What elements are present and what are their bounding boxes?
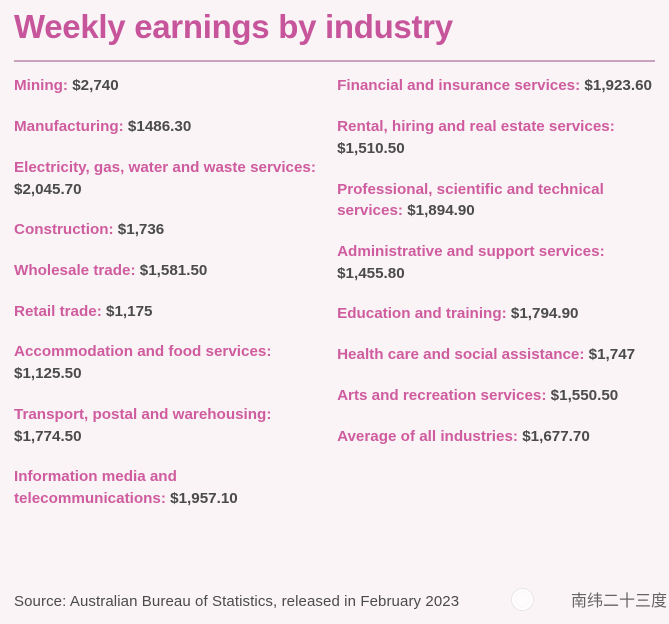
industry-entry: Manufacturing: $1486.30 bbox=[14, 116, 325, 138]
industry-label: Construction: bbox=[14, 221, 114, 238]
industry-label: Arts and recreation services: bbox=[337, 387, 546, 404]
industry-label: Mining: bbox=[14, 77, 68, 94]
watermark-text: 南纬二十三度 bbox=[571, 587, 667, 611]
industry-entry: Wholesale trade: $1,581.50 bbox=[14, 260, 325, 282]
industry-label: Education and training: bbox=[337, 305, 507, 322]
industry-value: $1486.30 bbox=[128, 118, 191, 135]
title-divider bbox=[14, 60, 655, 62]
industry-label: Accommodation and food services: bbox=[14, 343, 271, 360]
source-note: Source: Australian Bureau of Statistics,… bbox=[14, 593, 459, 610]
industry-label: Manufacturing: bbox=[14, 118, 124, 135]
industry-label: Administrative and support services: bbox=[337, 243, 605, 260]
industry-label: Information media and telecommunications… bbox=[14, 468, 177, 507]
earnings-column-right: Financial and insurance services: $1,923… bbox=[337, 75, 655, 466]
watermark-logo-icon bbox=[512, 589, 533, 610]
industry-value: $1,175 bbox=[106, 303, 152, 320]
industry-entry: Rental, hiring and real estate services:… bbox=[337, 116, 655, 159]
industry-value: $1,455.80 bbox=[337, 265, 405, 282]
industry-value: $1,894.90 bbox=[407, 202, 475, 219]
industry-entry: Financial and insurance services: $1,923… bbox=[337, 75, 655, 97]
industry-label: Average of all industries: bbox=[337, 428, 518, 445]
industry-entry: Transport, postal and warehousing: $1,77… bbox=[14, 404, 325, 447]
industry-entry: Average of all industries: $1,677.70 bbox=[337, 426, 655, 448]
industry-entry: Administrative and support services: $1,… bbox=[337, 241, 655, 284]
earnings-columns: Mining: $2,740Manufacturing: $1486.30Ele… bbox=[14, 75, 655, 529]
industry-entry: Electricity, gas, water and waste servic… bbox=[14, 157, 325, 200]
industry-label: Rental, hiring and real estate services: bbox=[337, 118, 615, 135]
industry-value: $2,740 bbox=[72, 77, 118, 94]
industry-label: Wholesale trade: bbox=[14, 262, 136, 279]
industry-value: $1,125.50 bbox=[14, 365, 82, 382]
industry-value: $1,550.50 bbox=[551, 387, 619, 404]
industry-value: $1,747 bbox=[589, 346, 635, 363]
industry-value: $1,510.50 bbox=[337, 140, 405, 157]
industry-value: $1,794.90 bbox=[511, 305, 579, 322]
industry-entry: Construction: $1,736 bbox=[14, 219, 325, 241]
industry-entry: Health care and social assistance: $1,74… bbox=[337, 344, 655, 366]
industry-value: $1,736 bbox=[118, 221, 164, 238]
page-title: Weekly earnings by industry bbox=[14, 0, 655, 45]
industry-entry: Education and training: $1,794.90 bbox=[337, 303, 655, 325]
industry-value: $1,957.10 bbox=[170, 490, 238, 507]
industry-value: $1,581.50 bbox=[140, 262, 208, 279]
industry-label: Health care and social assistance: bbox=[337, 346, 584, 363]
industry-entry: Arts and recreation services: $1,550.50 bbox=[337, 385, 655, 407]
industry-label: Financial and insurance services: bbox=[337, 77, 580, 94]
industry-entry: Information media and telecommunications… bbox=[14, 466, 325, 509]
industry-entry: Accommodation and food services: $1,125.… bbox=[14, 341, 325, 384]
industry-entry: Professional, scientific and technical s… bbox=[337, 179, 655, 222]
industry-label: Electricity, gas, water and waste servic… bbox=[14, 159, 316, 176]
industry-value: $1,774.50 bbox=[14, 428, 82, 445]
industry-label: Transport, postal and warehousing: bbox=[14, 406, 271, 423]
industry-entry: Mining: $2,740 bbox=[14, 75, 325, 97]
industry-entry: Retail trade: $1,175 bbox=[14, 301, 325, 323]
industry-label: Retail trade: bbox=[14, 303, 102, 320]
industry-value: $1,677.70 bbox=[522, 428, 590, 445]
industry-value: $1,923.60 bbox=[584, 77, 652, 94]
earnings-infographic: Weekly earnings by industry Mining: $2,7… bbox=[0, 0, 669, 624]
earnings-column-left: Mining: $2,740Manufacturing: $1486.30Ele… bbox=[14, 75, 337, 529]
industry-value: $2,045.70 bbox=[14, 181, 82, 198]
